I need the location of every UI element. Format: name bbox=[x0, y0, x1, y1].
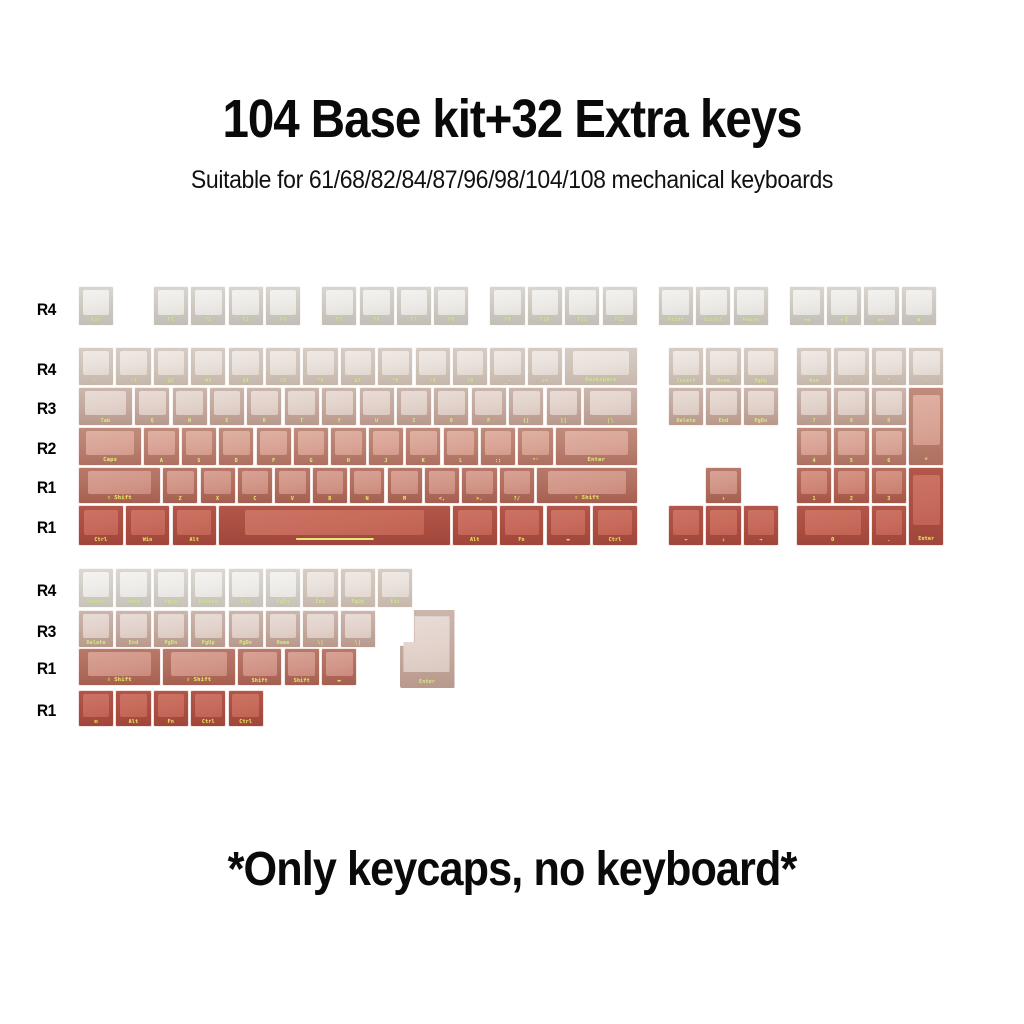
keycap-top-surface bbox=[382, 351, 409, 375]
keycap-0: 0 bbox=[796, 505, 870, 546]
keycap-legend: ▬ bbox=[322, 679, 356, 684]
keycap-top-surface bbox=[298, 431, 325, 455]
keycap-4: 4 bbox=[796, 427, 832, 466]
keycap-8: *8 bbox=[377, 347, 413, 386]
keycap-top-surface bbox=[363, 391, 390, 415]
keycap-legend: ^6 bbox=[303, 379, 337, 384]
row-label-r1-zxcv: R1 bbox=[37, 478, 56, 498]
keycap-home: Home bbox=[705, 347, 741, 386]
keycap-tab: Tab bbox=[78, 387, 133, 426]
keycap-pgup: PgUp bbox=[743, 347, 779, 386]
keycap-legend: B bbox=[313, 497, 347, 502]
keycap-legend: Enter bbox=[909, 537, 943, 542]
keycap-x: X bbox=[200, 467, 236, 504]
keycap-shift: Shift bbox=[237, 648, 283, 686]
keycap-pgdn: PgDn bbox=[743, 387, 779, 426]
keycap-f8: F8 bbox=[433, 286, 469, 326]
keycap-legend: N bbox=[350, 497, 384, 502]
keycap-legend: End bbox=[229, 600, 263, 605]
keycap-top-surface bbox=[569, 290, 596, 315]
keycap-legend: K bbox=[406, 459, 440, 464]
keycap-top-surface bbox=[158, 290, 185, 315]
keycap-top-surface bbox=[171, 652, 227, 675]
keycap-f7: F7 bbox=[396, 286, 432, 326]
keycap-legend: Alt bbox=[453, 538, 497, 543]
keycap-end: End bbox=[705, 387, 741, 426]
keycap-legend: 1 bbox=[797, 497, 831, 502]
keycap-legend: M bbox=[388, 497, 422, 502]
keycap-legend: += bbox=[528, 379, 562, 384]
keycap-0: )0 bbox=[452, 347, 488, 386]
keycap-7: 7 bbox=[796, 387, 832, 426]
keycap-1: 1 bbox=[796, 467, 832, 504]
keycap-top-surface bbox=[662, 290, 689, 315]
keycap-legend: F9 bbox=[490, 318, 524, 323]
keycap-legend: ▶▶ bbox=[864, 318, 898, 323]
keycap-top-surface bbox=[838, 431, 865, 455]
keycap-top-surface bbox=[354, 471, 381, 494]
keycap-legend: Scroll bbox=[696, 318, 730, 323]
keycap-legend: End bbox=[303, 600, 337, 605]
row-label-r4-num: R4 bbox=[37, 360, 56, 380]
keycap-legend: A bbox=[144, 459, 178, 464]
keycap-legend: E bbox=[210, 419, 244, 424]
keycap-top-surface bbox=[195, 290, 222, 315]
keycap-top-surface bbox=[673, 391, 700, 415]
keycap-alt: Alt bbox=[452, 505, 498, 546]
keycap-2: @2 bbox=[153, 347, 189, 386]
keycap-top-surface bbox=[447, 431, 474, 455]
keycap-: <, bbox=[424, 467, 460, 504]
keycap-top-surface bbox=[279, 471, 306, 494]
keycap-ctrl: Ctrl bbox=[592, 505, 638, 546]
keycap-top-surface bbox=[565, 431, 628, 455]
row-label-extra-r3: R3 bbox=[37, 622, 56, 642]
keycap-q: Q bbox=[134, 387, 170, 426]
keycap-delete: Delete bbox=[668, 387, 704, 426]
keycap-top-surface bbox=[429, 471, 456, 494]
keycap-top-surface bbox=[700, 290, 727, 315]
keycap-top-surface bbox=[288, 652, 315, 675]
keycap-legend: O bbox=[434, 419, 468, 424]
keycap-top-surface bbox=[326, 652, 353, 675]
keycap-: ↓ bbox=[705, 505, 741, 546]
keycap-top-surface bbox=[710, 391, 737, 415]
keycap-: ↑ bbox=[705, 467, 741, 504]
keycap-legend: Home bbox=[706, 379, 740, 384]
keycap-f6: F6 bbox=[359, 286, 395, 326]
keycap-top-surface bbox=[410, 431, 437, 455]
keycap-legend: F6 bbox=[360, 318, 394, 323]
keycap-top-surface bbox=[83, 694, 110, 717]
keycap-top-surface bbox=[83, 614, 110, 637]
keycap-top-surface bbox=[494, 351, 521, 375]
keycap-5: %5 bbox=[265, 347, 301, 386]
keycap-legend: - bbox=[909, 379, 943, 384]
keycap-: \| bbox=[340, 610, 376, 648]
keycap-top-surface bbox=[204, 471, 231, 494]
keycap-legend: ⊞ bbox=[79, 720, 113, 725]
keycap-: ■ bbox=[901, 286, 937, 326]
keycap-pgup: PgUp bbox=[190, 610, 226, 648]
keycap-top-surface bbox=[120, 614, 147, 637]
keycap-legend: F12 bbox=[603, 318, 637, 323]
keycap-legend: {[ bbox=[509, 419, 543, 424]
keycap-top-surface bbox=[84, 510, 118, 535]
keycap-6: ^6 bbox=[302, 347, 338, 386]
keycap-legend: U bbox=[360, 419, 394, 424]
keycap-: / bbox=[833, 347, 869, 386]
keycap-legend: P bbox=[472, 419, 506, 424]
keycap-legend: F8 bbox=[434, 318, 468, 323]
keycap-top-surface bbox=[120, 572, 147, 597]
keycap-top-surface bbox=[876, 351, 903, 375]
keycap-t: T bbox=[284, 387, 320, 426]
keycap-legend: ← bbox=[669, 538, 703, 543]
keycap-legend: Num bbox=[797, 379, 831, 384]
keycap-top-surface bbox=[868, 290, 895, 315]
keycap-top-surface bbox=[223, 431, 250, 455]
keycap-legend: 6 bbox=[872, 459, 906, 464]
keycap-ctrl: Ctrl bbox=[78, 505, 124, 546]
keycap-legend: ■ bbox=[902, 318, 936, 323]
keycap-top-surface bbox=[801, 431, 828, 455]
keycap-top-surface bbox=[673, 351, 700, 375]
keycap-b: B bbox=[312, 467, 348, 504]
keycap-y: Y bbox=[321, 387, 357, 426]
keycap-top-surface bbox=[466, 471, 493, 494]
keycap-: ▬ bbox=[321, 648, 357, 686]
keycap-legend: Alt bbox=[116, 720, 150, 725]
keycap-top-surface bbox=[363, 290, 390, 315]
keycap-esc: Esc bbox=[78, 286, 114, 326]
keycap-r: R bbox=[246, 387, 282, 426]
keycap-pgdn: PgDn bbox=[228, 610, 264, 648]
keycap-legend: J bbox=[369, 459, 403, 464]
keycap-s: S bbox=[181, 427, 217, 466]
keycap-f4: F4 bbox=[265, 286, 301, 326]
keycap-3: #3 bbox=[190, 347, 226, 386]
keycap-home: Home bbox=[115, 568, 151, 608]
keycap-top-surface bbox=[139, 391, 166, 415]
keycap-legend: F4 bbox=[266, 318, 300, 323]
keycap-o: O bbox=[433, 387, 469, 426]
keycap-: ~` bbox=[78, 347, 114, 386]
keycap-h: H bbox=[330, 427, 366, 466]
keycap-caps: Caps bbox=[78, 427, 142, 466]
keycap-top-surface bbox=[243, 652, 277, 675]
keycap-f11: F11 bbox=[564, 286, 600, 326]
keycap-shift: ⇧ Shift bbox=[78, 467, 161, 504]
keycap-top-surface bbox=[83, 290, 110, 315]
keycap-legend: &7 bbox=[341, 379, 375, 384]
keycap-: >. bbox=[461, 467, 497, 504]
keycap-: ⊞ bbox=[78, 690, 114, 727]
keycap-legend: Z bbox=[163, 497, 197, 502]
keycap-scroll: Scroll bbox=[695, 286, 731, 326]
keycap-top-surface bbox=[475, 391, 502, 415]
keycap-legend: _- bbox=[490, 379, 524, 384]
keycap-legend: Shift bbox=[285, 679, 319, 684]
keycap-insert: Insert bbox=[78, 568, 114, 608]
keycap-legend: PgUp bbox=[341, 600, 375, 605]
keycap-top-surface bbox=[167, 471, 194, 494]
keycap-legend: * bbox=[872, 379, 906, 384]
keycap-top-surface bbox=[120, 694, 147, 717]
keycap-top-surface bbox=[88, 652, 151, 675]
keycap-pgdn: PgDn bbox=[265, 568, 301, 608]
keycap-legend: Caps bbox=[79, 458, 141, 464]
keycap-legend: 8 bbox=[834, 419, 868, 424]
keycap-top-surface bbox=[391, 471, 418, 494]
spacebar-legend-line bbox=[295, 538, 373, 540]
keycap-legend: \| bbox=[303, 641, 337, 646]
keycap-legend: G bbox=[294, 459, 328, 464]
keycap-legend: ↑ bbox=[706, 497, 740, 502]
keycap-: _- bbox=[489, 347, 525, 386]
keycap-a: A bbox=[143, 427, 179, 466]
keycap-top-surface bbox=[913, 395, 940, 445]
keycap-legend: ▬ bbox=[547, 538, 591, 543]
keycap-legend: )0 bbox=[453, 379, 487, 384]
keycap-legend: %5 bbox=[266, 379, 300, 384]
keycap-legend: Insert bbox=[79, 600, 113, 605]
row-label-r4-fn: R4 bbox=[37, 300, 56, 320]
keycap-top-surface bbox=[335, 431, 362, 455]
keycap-print: Print bbox=[658, 286, 694, 326]
keycap-top-surface bbox=[120, 351, 147, 375]
keycap-legend: F2 bbox=[191, 318, 225, 323]
keycap-top-surface bbox=[83, 351, 110, 375]
keycap-legend: I bbox=[397, 419, 431, 424]
keycap-top-surface bbox=[251, 391, 278, 415]
keycap-: ?/ bbox=[499, 467, 535, 504]
keycap-iso-enter-top bbox=[403, 616, 449, 672]
keycap-alt: Alt bbox=[115, 690, 151, 727]
keycap-top-surface bbox=[345, 351, 372, 375]
keycap-legend: $4 bbox=[229, 379, 263, 384]
keycap-top-surface bbox=[195, 694, 222, 717]
keycap-pgup: PgUp bbox=[153, 568, 189, 608]
keycap-top-surface bbox=[573, 351, 629, 375]
keycap-top-surface bbox=[158, 694, 185, 717]
keycap-fn: Fn bbox=[499, 505, 545, 546]
keycap-2: 2 bbox=[833, 467, 869, 504]
keycap-top-surface bbox=[131, 510, 165, 535]
keycap-: "' bbox=[517, 427, 553, 466]
keycap-legend: ◀◀ bbox=[790, 318, 824, 323]
keycap-legend: Win bbox=[126, 538, 170, 543]
row-label-r3: R3 bbox=[37, 399, 56, 419]
keycap-top-surface bbox=[876, 510, 903, 535]
keycap-7: &7 bbox=[340, 347, 376, 386]
keycap-i: I bbox=[396, 387, 432, 426]
keycap-legend: F7 bbox=[397, 318, 431, 323]
keycap-top-surface bbox=[85, 391, 126, 415]
keycap-top-surface bbox=[88, 471, 151, 494]
keycap-legend: 2 bbox=[834, 497, 868, 502]
keycap-8: 8 bbox=[833, 387, 869, 426]
keycap-legend: ⇧ Shift bbox=[79, 678, 160, 684]
keycap-: }] bbox=[546, 387, 582, 426]
keycap-6: 6 bbox=[871, 427, 907, 466]
keycap-9: (9 bbox=[415, 347, 451, 386]
keycap-legend: Enter bbox=[556, 458, 637, 464]
keycap-backspace: Backspace bbox=[564, 347, 638, 386]
keycap-legend: + bbox=[909, 457, 943, 462]
keycap-top-surface bbox=[148, 431, 175, 455]
keycap-: → bbox=[743, 505, 779, 546]
keycap-legend: V bbox=[275, 497, 309, 502]
keycap-w: W bbox=[172, 387, 208, 426]
keycap-legend: }] bbox=[547, 419, 581, 424]
keycap-legend: X bbox=[201, 497, 235, 502]
keycap-legend: Delete bbox=[669, 419, 703, 424]
keycap-legend: Print bbox=[659, 318, 693, 323]
keycap-pause: Pause bbox=[733, 286, 769, 326]
keycap-legend: PgUp bbox=[154, 600, 188, 605]
keycap-d: D bbox=[218, 427, 254, 466]
keycap-l: L bbox=[443, 427, 479, 466]
keycap-top-surface bbox=[438, 290, 465, 315]
keycap-home: Home bbox=[265, 610, 301, 648]
keycap-top-surface bbox=[801, 391, 828, 415]
keycap-top-surface bbox=[876, 391, 903, 415]
keycap-legend: F5 bbox=[322, 318, 356, 323]
keycap-enter: Enter bbox=[908, 467, 944, 546]
keycap-top-surface bbox=[158, 351, 185, 375]
keycap-c: C bbox=[237, 467, 273, 504]
keycap-top-surface bbox=[598, 510, 632, 535]
keycap-v: V bbox=[274, 467, 310, 504]
keycap-e: E bbox=[209, 387, 245, 426]
keycap-legend: C bbox=[238, 497, 272, 502]
keycap-top-surface bbox=[548, 471, 626, 494]
keycap-legend: Pause bbox=[734, 318, 768, 323]
keycap-top-surface bbox=[158, 572, 185, 597]
keycap-3: 3 bbox=[871, 467, 907, 504]
keycap-top-surface bbox=[401, 290, 428, 315]
keycap-legend: ⇧ Shift bbox=[79, 496, 160, 502]
keycap-ctrl: Ctrl bbox=[190, 690, 226, 727]
keycap-: - bbox=[908, 347, 944, 386]
keycap-top-surface bbox=[195, 614, 222, 637]
keycap-top-surface bbox=[606, 290, 633, 315]
keycap-legend: ▶▐ bbox=[827, 318, 861, 323]
keycap-legend: F1 bbox=[154, 318, 188, 323]
keycap-j: J bbox=[368, 427, 404, 466]
keycap-legend: ⇧ Shift bbox=[537, 496, 637, 502]
keycap-legend: F bbox=[257, 459, 291, 464]
keycap-: ◀◀ bbox=[789, 286, 825, 326]
keycap-pgup: PgUp bbox=[340, 568, 376, 608]
keycap-legend: PgUp bbox=[744, 379, 778, 384]
keycap-legend: #3 bbox=[191, 379, 225, 384]
keycap-top-surface bbox=[838, 471, 865, 494]
keycap-f12: F12 bbox=[602, 286, 638, 326]
keycap-top-surface bbox=[710, 510, 737, 535]
keycap-top-surface bbox=[673, 510, 700, 535]
keycap-legend: F11 bbox=[565, 318, 599, 323]
keycap-legend: Backspace bbox=[565, 378, 637, 384]
keycap-top-surface bbox=[805, 510, 861, 535]
keycap-legend: S bbox=[182, 459, 216, 464]
keycap-top-surface bbox=[186, 431, 213, 455]
keycap-top-surface bbox=[176, 391, 203, 415]
keycap-top-surface bbox=[242, 471, 269, 494]
keycap-legend: Tab bbox=[79, 419, 132, 424]
keycap-p: P bbox=[471, 387, 507, 426]
keycap-: ▶▐ bbox=[826, 286, 862, 326]
keycap-legend: <, bbox=[425, 497, 459, 502]
keycap-enter: Enter bbox=[555, 427, 638, 466]
keycap-: . bbox=[871, 505, 907, 546]
keycap-legend: Ctrl bbox=[593, 538, 637, 543]
keycap-top-surface bbox=[532, 351, 559, 375]
keycap-legend: ?/ bbox=[500, 497, 534, 502]
keycap-f2: F2 bbox=[190, 286, 226, 326]
keycap-legend: 5 bbox=[834, 459, 868, 464]
keycap-legend: Esc bbox=[378, 600, 412, 605]
keycap-f9: F9 bbox=[489, 286, 525, 326]
keycap-f3: F3 bbox=[228, 286, 264, 326]
keycap-legend: T bbox=[285, 419, 319, 424]
keycap-top-surface bbox=[590, 391, 631, 415]
keycap-legend: R bbox=[247, 419, 281, 424]
keycap-legend: Ctrl bbox=[79, 538, 123, 543]
keycap-top-surface bbox=[232, 290, 259, 315]
keycap-legend: Alt bbox=[173, 538, 217, 543]
keycap-legend: W bbox=[173, 419, 207, 424]
keycap-legend: 7 bbox=[797, 419, 831, 424]
keycap-top-surface bbox=[232, 694, 259, 717]
keycap-legend: Shift bbox=[238, 679, 282, 684]
keycap-legend: Y bbox=[322, 419, 356, 424]
keycap-top-surface bbox=[748, 510, 775, 535]
keycap-end: End bbox=[302, 568, 338, 608]
keycap-top-surface bbox=[195, 572, 222, 597]
keycap-top-surface bbox=[270, 351, 297, 375]
keycap-end: End bbox=[115, 610, 151, 648]
keycap-f5: F5 bbox=[321, 286, 357, 326]
keycap-top-surface bbox=[326, 391, 353, 415]
keycap-legend: Fn bbox=[500, 538, 544, 543]
keycap-legend: (9 bbox=[416, 379, 450, 384]
keycap-: ← bbox=[668, 505, 704, 546]
keycap-legend: Ctrl bbox=[229, 720, 263, 725]
keycap-n: N bbox=[349, 467, 385, 504]
keycap-top-surface bbox=[831, 290, 858, 315]
keycap-shift: ⇧ Shift bbox=[78, 648, 161, 686]
keycap-legend: Q bbox=[135, 419, 169, 424]
keycap-: |\ bbox=[583, 387, 638, 426]
keycap-ctrl: Ctrl bbox=[228, 690, 264, 727]
keycap-num: Num bbox=[796, 347, 832, 386]
keycap bbox=[218, 505, 451, 546]
keycap-legend: / bbox=[834, 379, 868, 384]
keycap-legend: *8 bbox=[378, 379, 412, 384]
keycap-top-surface bbox=[457, 351, 484, 375]
row-label-extra-r4: R4 bbox=[37, 581, 56, 601]
keycap-: * bbox=[871, 347, 907, 386]
keycap-legend: Esc bbox=[79, 318, 113, 323]
keycap-: + bbox=[908, 387, 944, 466]
keycap-legend: Delete bbox=[79, 641, 113, 646]
keycap-top-surface bbox=[270, 290, 297, 315]
keycap-legend: PgDn bbox=[266, 600, 300, 605]
keycap-legend: Home bbox=[116, 600, 150, 605]
keycap-top-surface bbox=[906, 290, 933, 315]
